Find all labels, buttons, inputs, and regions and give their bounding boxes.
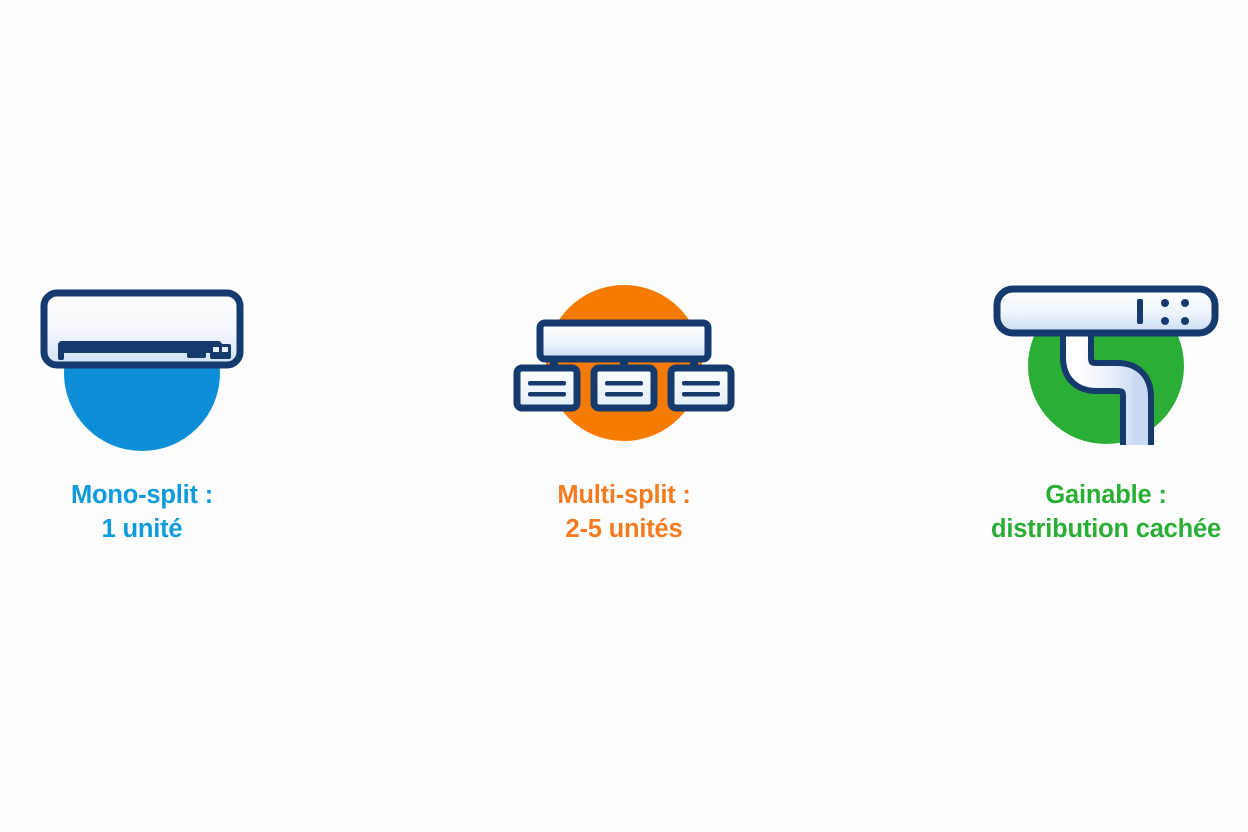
label-line-2: 2-5 unités (557, 513, 690, 547)
wall-mounted-split-ac-icon (27, 271, 257, 461)
ac-indicator-1 (187, 346, 206, 358)
grille-dot-4 (1181, 317, 1189, 325)
card-label-multi-split: Multi-split : 2-5 unités (557, 479, 690, 546)
grille-divider-line (1137, 299, 1143, 324)
card-mono-split[interactable]: Mono-split : 1 unité (0, 271, 295, 546)
cards-row: Mono-split : 1 unité (0, 271, 1248, 546)
ac-vent-tick (58, 347, 64, 360)
climatisation-types-infographic: Mono-split : 1 unité (0, 0, 1248, 832)
main-indoor-unit (540, 323, 708, 359)
sub-unit-3-vent-1 (682, 381, 720, 386)
label-line-2: distribution cachée (991, 513, 1221, 547)
sub-unit-2 (594, 368, 654, 408)
sub-unit-3 (671, 368, 731, 408)
icon-wrap-mono-split (17, 271, 267, 461)
ducted-ac-grille-duct-icon (991, 271, 1221, 461)
card-label-gainable: Gainable : distribution cachée (991, 479, 1221, 546)
card-gainable[interactable]: Gainable : distribution cachée (953, 271, 1248, 546)
label-line-1: Mono-split : (71, 479, 213, 513)
card-multi-split[interactable]: Multi-split : 2-5 unités (471, 271, 777, 546)
sub-unit-2-vent-2 (605, 392, 643, 397)
multi-split-ac-units-icon (509, 271, 739, 461)
sub-unit-2-vent-1 (605, 381, 643, 386)
sub-unit-1-vent-1 (528, 381, 566, 386)
card-label-mono-split: Mono-split : 1 unité (71, 479, 213, 546)
grille-dot-1 (1161, 299, 1169, 307)
icon-wrap-gainable (981, 271, 1231, 461)
label-line-1: Gainable : (991, 479, 1221, 513)
sub-unit-3-vent-2 (682, 392, 720, 397)
ac-indicator-led-a (213, 347, 219, 352)
grille-dot-3 (1161, 317, 1169, 325)
grille-dot-2 (1181, 299, 1189, 307)
sub-unit-1-vent-2 (528, 392, 566, 397)
ac-indicator-led-b (222, 347, 228, 352)
label-line-1: Multi-split : (557, 479, 690, 513)
label-line-2: 1 unité (71, 513, 213, 547)
ceiling-grille-bar (997, 289, 1215, 333)
sub-unit-1 (517, 368, 577, 408)
icon-wrap-multi-split (499, 271, 749, 461)
